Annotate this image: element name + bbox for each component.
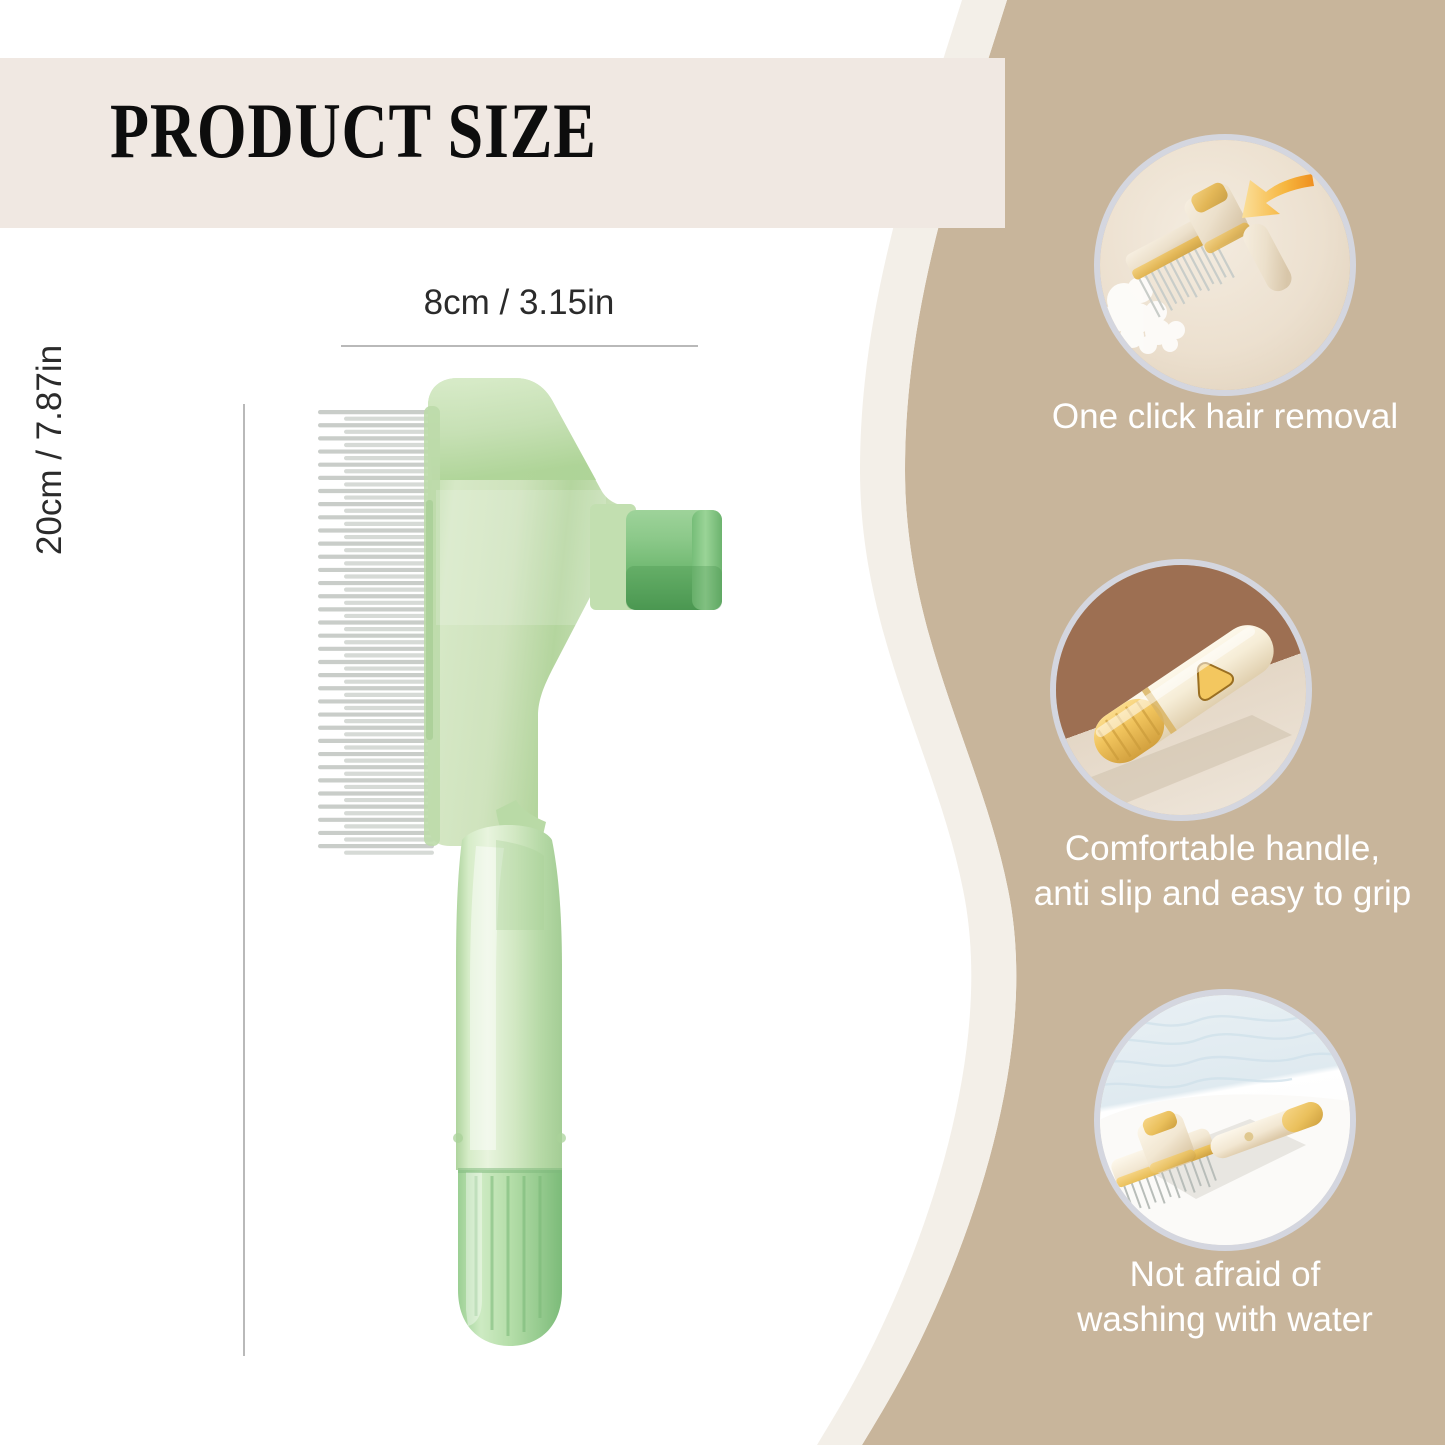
title-band [0, 58, 1005, 228]
brush-pin [344, 535, 434, 539]
brush-pin [344, 588, 434, 592]
brush-pin [344, 680, 434, 684]
brush-pin [344, 719, 434, 723]
brush-head-gloss [436, 490, 606, 625]
handle-seam-notch-right [556, 1133, 566, 1143]
feature-3-photo [1100, 995, 1350, 1245]
brush-pin [318, 594, 434, 598]
brush-pin [318, 581, 434, 585]
brush-pin [344, 561, 434, 565]
brush-pin [344, 851, 434, 855]
brush-pin [318, 739, 434, 743]
brush-pin [344, 469, 434, 473]
brush-pin [318, 449, 434, 453]
height-dimension-line [243, 404, 245, 1356]
brush-pin [318, 844, 434, 848]
brush-pin [344, 824, 434, 828]
brush-pin [318, 634, 434, 638]
brush-pin [318, 647, 434, 651]
brush-pin [344, 482, 434, 486]
brush-pin [318, 489, 434, 493]
brush-pin [344, 430, 434, 434]
brush-pin [318, 726, 434, 730]
feature-1-photo [1100, 140, 1350, 390]
brush-pin [344, 653, 434, 657]
handle-thumb-ridges [496, 840, 544, 930]
brush-pin [344, 640, 434, 644]
feature-2-photo [1056, 565, 1306, 815]
brush-pin [318, 476, 434, 480]
brush-pin [318, 542, 434, 546]
brush-pin [344, 732, 434, 736]
brush-pin [344, 745, 434, 749]
brush-pin [344, 509, 434, 513]
brush-pin [344, 601, 434, 605]
brush-pin [318, 818, 434, 822]
brush-pin [318, 699, 434, 703]
grip-end-gloss [466, 1172, 482, 1326]
brush-head-top-facet [428, 378, 596, 480]
brush-pin [318, 515, 434, 519]
brush-pin [318, 831, 434, 835]
brush-pin [318, 765, 434, 769]
brush-pins [318, 410, 434, 855]
brush-pin [318, 791, 434, 795]
brush-pin [318, 620, 434, 624]
down-arrow-icon [1242, 174, 1314, 218]
brush-pin [344, 706, 434, 710]
product-image-green-brush [300, 370, 740, 1360]
brush-pin [318, 555, 434, 559]
brush-pin [318, 686, 434, 690]
brush-pin [344, 456, 434, 460]
brush-pin [344, 522, 434, 526]
brush-pin [318, 528, 434, 532]
brush-pin [318, 423, 434, 427]
brush-pin [344, 772, 434, 776]
grip-seam-line [458, 1168, 562, 1173]
brush-pin [344, 666, 434, 670]
brush-pin [318, 712, 434, 716]
water-ripples [1100, 1013, 1350, 1087]
brush-pin [318, 463, 434, 467]
brush-pin [344, 785, 434, 789]
brush-pin [318, 805, 434, 809]
brush-pin [344, 548, 434, 552]
brush-pin [344, 417, 434, 421]
brush-pin [344, 574, 434, 578]
brush-head-lip-highlight [426, 500, 433, 740]
brush-pin [344, 693, 434, 697]
brush-pin [318, 502, 434, 506]
brush-pin [344, 811, 434, 815]
brush-pin [344, 614, 434, 618]
hair-release-button-shade [626, 566, 722, 610]
brush-pin [344, 443, 434, 447]
brush-pin [318, 778, 434, 782]
brush-pin [318, 607, 434, 611]
brush-pin [344, 837, 434, 841]
brush-pin [318, 436, 434, 440]
brush-pin [318, 568, 434, 572]
brush-pin [318, 673, 434, 677]
infographic-canvas: PRODUCT SIZE 8cm / 3.15in 20cm / 7.87in [0, 0, 1445, 1445]
handle-seam-notch-left [453, 1133, 463, 1143]
brush-pin [318, 660, 434, 664]
brush-pin [344, 759, 434, 763]
brush-pin [344, 798, 434, 802]
brush-pin [318, 752, 434, 756]
brush-pin [344, 627, 434, 631]
brush-pin [318, 410, 434, 414]
brush-pin [344, 495, 434, 499]
width-dimension-line [341, 345, 698, 347]
